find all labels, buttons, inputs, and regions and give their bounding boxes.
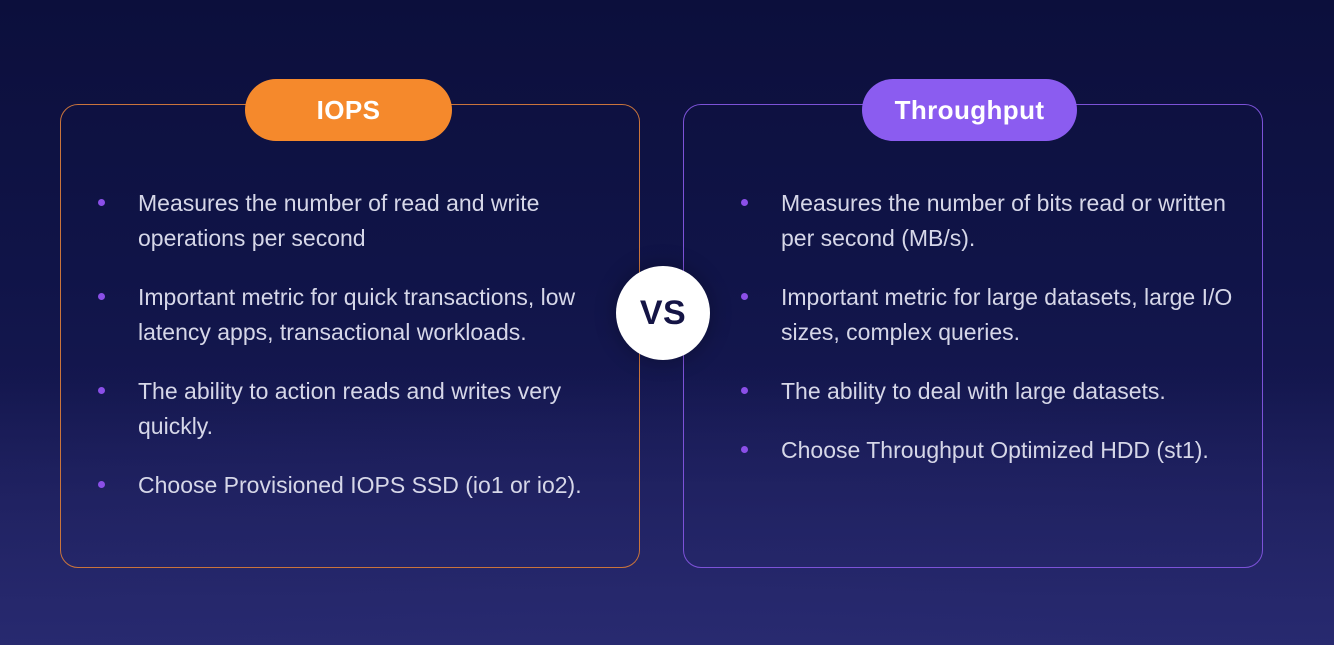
list-item-text: Measures the number of read and write op…	[138, 186, 593, 256]
list-item-text: The ability to deal with large datasets.	[781, 374, 1246, 409]
card-throughput-title: Throughput	[895, 95, 1045, 126]
bullet-dot-icon	[741, 446, 748, 453]
list-item: Choose Throughput Optimized HDD (st1).	[741, 433, 1246, 468]
list-item: Important metric for quick transactions,…	[98, 280, 593, 350]
bullet-dot-icon	[741, 387, 748, 394]
bullet-dot-icon	[98, 199, 105, 206]
card-iops-bullet-list: Measures the number of read and write op…	[98, 186, 593, 503]
list-item-text: Important metric for quick transactions,…	[138, 280, 593, 350]
bullet-dot-icon	[741, 293, 748, 300]
bullet-dot-icon	[741, 199, 748, 206]
bullet-dot-icon	[98, 293, 105, 300]
list-item: Important metric for large datasets, lar…	[741, 280, 1246, 350]
list-item-text: Choose Provisioned IOPS SSD (io1 or io2)…	[138, 468, 593, 503]
list-item: Measures the number of bits read or writ…	[741, 186, 1246, 256]
list-item: The ability to deal with large datasets.	[741, 374, 1246, 409]
card-iops-title-pill: IOPS	[245, 79, 452, 141]
list-item: The ability to action reads and writes v…	[98, 374, 593, 444]
bullet-dot-icon	[98, 481, 105, 488]
comparison-stage: IOPS Measures the number of read and wri…	[0, 0, 1334, 645]
card-throughput-title-pill: Throughput	[862, 79, 1077, 141]
vs-badge-label: VS	[640, 294, 686, 333]
list-item-text: Important metric for large datasets, lar…	[781, 280, 1246, 350]
list-item-text: Choose Throughput Optimized HDD (st1).	[781, 433, 1246, 468]
list-item: Measures the number of read and write op…	[98, 186, 593, 256]
card-throughput-bullet-list: Measures the number of bits read or writ…	[741, 186, 1246, 468]
list-item-text: The ability to action reads and writes v…	[138, 374, 593, 444]
vs-badge: VS	[616, 266, 710, 360]
list-item: Choose Provisioned IOPS SSD (io1 or io2)…	[98, 468, 593, 503]
bullet-dot-icon	[98, 387, 105, 394]
card-iops-title: IOPS	[317, 95, 381, 126]
list-item-text: Measures the number of bits read or writ…	[781, 186, 1246, 256]
